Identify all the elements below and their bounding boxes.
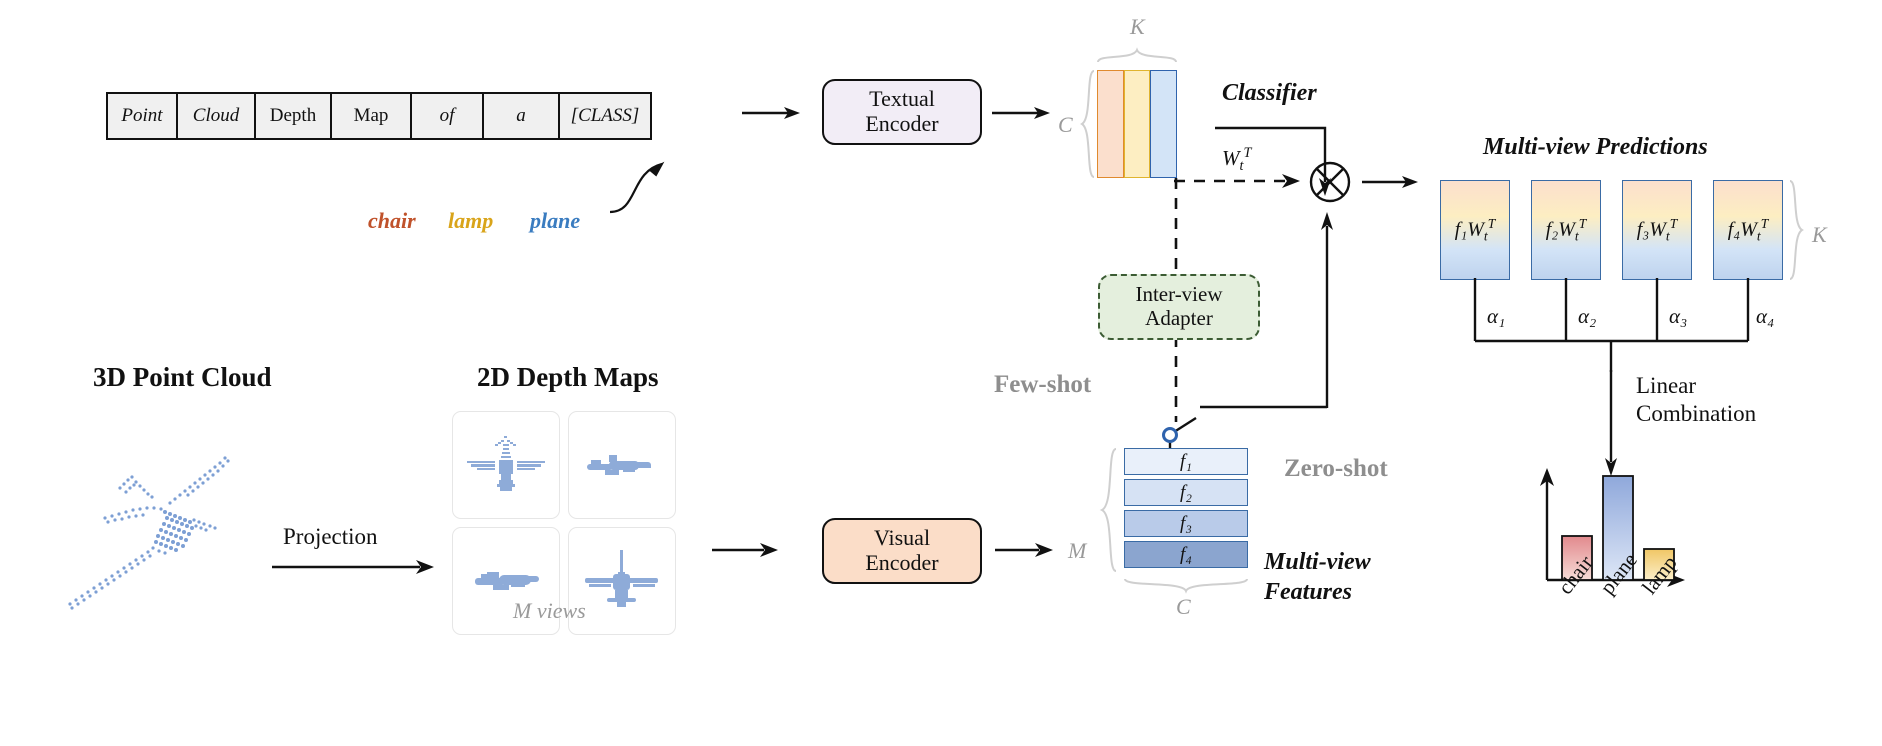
classifier-rows-brace-icon bbox=[1080, 70, 1096, 178]
depth-map-2-figure bbox=[569, 412, 675, 518]
classifier-cols-brace-icon bbox=[1097, 48, 1177, 64]
feature-row-1: f₁ bbox=[1124, 448, 1248, 475]
dashed-line-adapter-down bbox=[1170, 336, 1182, 426]
features-title-line2: Features bbox=[1264, 577, 1371, 607]
visual-encoder-line1: Visual bbox=[874, 526, 930, 551]
few-shot-label: Few-shot bbox=[994, 371, 1091, 399]
arrow-projection bbox=[272, 558, 440, 578]
class-word-plane: plane bbox=[530, 208, 580, 234]
depth-maps-caption: M views bbox=[513, 598, 586, 624]
arrow-prompt-to-textual-encoder bbox=[742, 103, 804, 125]
depth-maps-title: 2D Depth Maps bbox=[477, 362, 659, 393]
classifier-matrix bbox=[1097, 70, 1177, 178]
adapter-line2: Adapter bbox=[1145, 307, 1213, 331]
arrow-visual-encoder-to-features bbox=[995, 540, 1057, 562]
prediction-box-3-label: f₃WtT bbox=[1637, 216, 1678, 245]
zero-shot-label: Zero-shot bbox=[1284, 455, 1388, 483]
prompt-token: Cloud bbox=[178, 94, 256, 138]
alpha-label-4: α₄ bbox=[1756, 304, 1774, 329]
arrow-product-to-predictions bbox=[1362, 172, 1424, 194]
visual-encoder-line2: Encoder bbox=[865, 551, 938, 576]
visual-encoder-block[interactable]: Visual Encoder bbox=[822, 518, 982, 584]
arrow-zero-shot-to-product bbox=[1320, 210, 1334, 410]
prompt-token: Map bbox=[332, 94, 412, 138]
multi-view-feature-stack: f₁ f₂ f₃ f₄ bbox=[1124, 448, 1248, 568]
feature-row-2: f₂ bbox=[1124, 479, 1248, 506]
prompt-token: Depth bbox=[256, 94, 332, 138]
prediction-box-4: f₄WtT bbox=[1713, 180, 1783, 280]
arrow-textual-encoder-to-classifier bbox=[992, 103, 1054, 125]
textual-encoder-line1: Textual bbox=[869, 87, 935, 112]
linear-combination-label: Linear Combination bbox=[1636, 372, 1756, 428]
textual-encoder-block[interactable]: Textual Encoder bbox=[822, 79, 982, 145]
class-curved-arrow-icon bbox=[590, 150, 710, 230]
alpha-label-3: α₃ bbox=[1669, 304, 1687, 329]
predictions-title: Multi-view Predictions bbox=[1483, 134, 1708, 161]
line-switch-to-zero-shot bbox=[1200, 400, 1330, 414]
prediction-box-1-label: f₁WtT bbox=[1455, 216, 1496, 245]
tensor-product-icon bbox=[1306, 158, 1354, 206]
alpha-label-2: α₂ bbox=[1578, 304, 1596, 329]
prediction-box-2-label: f₂WtT bbox=[1546, 216, 1587, 245]
feature-row-3: f₃ bbox=[1124, 510, 1248, 537]
alpha-label-1: α₁ bbox=[1487, 304, 1505, 329]
arrow-depthmaps-to-visual-encoder bbox=[712, 540, 782, 562]
multi-view-features-title: Multi-view Features bbox=[1264, 547, 1371, 607]
classifier-column-lamp bbox=[1124, 70, 1151, 178]
projection-label: Projection bbox=[283, 524, 378, 550]
class-word-lamp: lamp bbox=[448, 208, 493, 234]
predictions-brace-icon bbox=[1788, 180, 1806, 280]
prediction-box-3: f₃WtT bbox=[1622, 180, 1692, 280]
adapter-line1: Inter-view bbox=[1135, 283, 1222, 307]
prompt-token: Point bbox=[108, 94, 178, 138]
prediction-box-2: f₂WtT bbox=[1531, 180, 1601, 280]
classifier-column-chair bbox=[1097, 70, 1124, 178]
prompt-token-box: Point Cloud Depth Map of a [CLASS] bbox=[106, 92, 652, 140]
textual-encoder-line2: Encoder bbox=[865, 112, 938, 137]
features-title-line1: Multi-view bbox=[1264, 547, 1371, 577]
prompt-token-class: [CLASS] bbox=[560, 94, 650, 138]
class-word-chair: chair bbox=[368, 208, 416, 234]
depth-map-tile-1[interactable] bbox=[452, 411, 560, 519]
prediction-box-1: f₁WtT bbox=[1440, 180, 1510, 280]
features-channel-brace-icon bbox=[1124, 578, 1248, 594]
dashed-line-adapter-up bbox=[1170, 178, 1182, 278]
prompt-token: of bbox=[412, 94, 484, 138]
prediction-box-4-label: f₄WtT bbox=[1728, 216, 1769, 245]
prediction-bar-chart: chair plane lamp bbox=[1525, 462, 1705, 592]
predictions-dim-label: K bbox=[1812, 222, 1827, 248]
features-count-brace-icon bbox=[1100, 448, 1118, 572]
point-cloud-figure bbox=[60, 430, 290, 620]
linear-combination-line2: Combination bbox=[1636, 400, 1756, 428]
point-cloud-title: 3D Point Cloud bbox=[93, 362, 272, 393]
inter-view-adapter-block[interactable]: Inter-view Adapter bbox=[1098, 274, 1260, 340]
feature-row-4: f₄ bbox=[1124, 541, 1248, 568]
features-dim-channel-label: C bbox=[1176, 594, 1191, 620]
linear-combination-line1: Linear bbox=[1636, 372, 1756, 400]
dashed-arrow-adapter-to-product bbox=[1174, 172, 1308, 192]
classifier-title: Classifier bbox=[1222, 80, 1317, 107]
prompt-token: a bbox=[484, 94, 560, 138]
depth-map-1-figure bbox=[453, 412, 559, 518]
depth-map-tile-2[interactable] bbox=[568, 411, 676, 519]
features-dim-count-label: M bbox=[1068, 538, 1086, 564]
classifier-dim-cols-label: K bbox=[1130, 14, 1145, 40]
classifier-dim-rows-label: C bbox=[1058, 112, 1073, 138]
classifier-column-plane bbox=[1150, 70, 1177, 178]
